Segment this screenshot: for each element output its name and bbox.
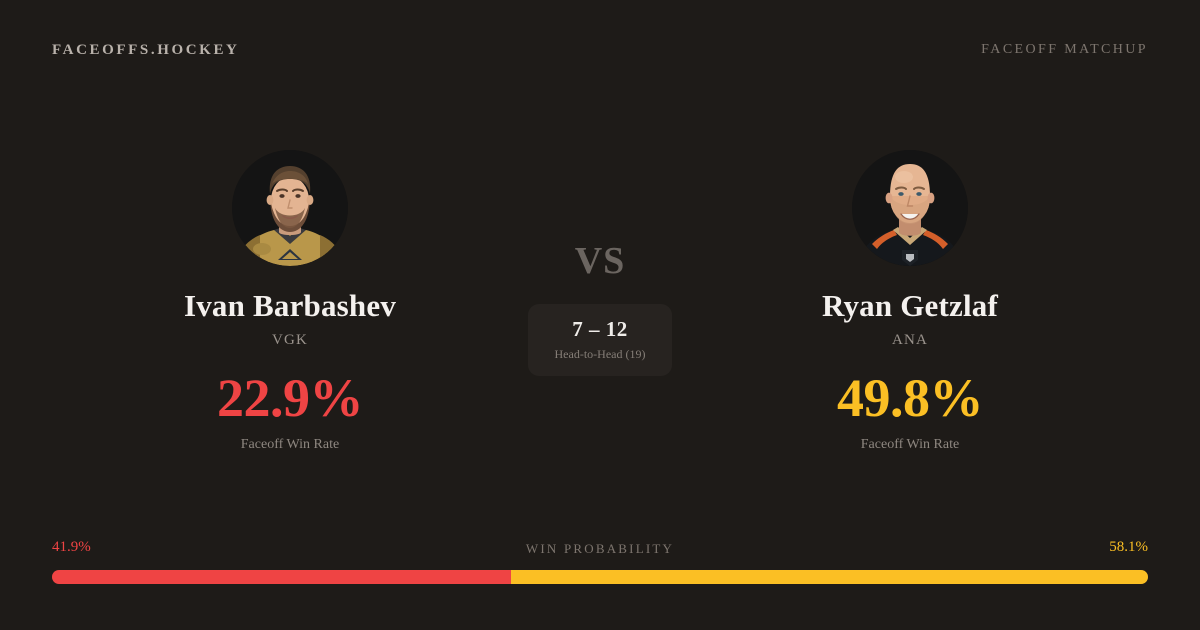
win-probability-bar-right-segment — [511, 570, 1148, 584]
win-probability-value-right: 58.1% — [1109, 539, 1148, 556]
matchup-section: Ivan Barbashev VGK 22.9% Faceoff Win Rat… — [0, 150, 1200, 480]
ryan-getzlaf-headshot — [852, 150, 968, 266]
head-to-head-box[interactable]: 7 – 12 Head-to-Head (19) — [528, 304, 672, 376]
versus-label: VS — [575, 242, 626, 280]
faceoff-matchup-card: FACEOFFS.HOCKEY FACEOFF MATCHUP — [0, 0, 1200, 630]
versus-section: VS 7 – 12 Head-to-Head (19) — [500, 150, 700, 376]
head-to-head-score: 7 – 12 — [572, 317, 628, 342]
player-name-left: Ivan Barbashev — [184, 288, 396, 324]
player-team-left: VGK — [272, 332, 308, 349]
faceoff-win-rate-label-left: Faceoff Win Rate — [241, 437, 339, 453]
player-card-right[interactable]: Ryan Getzlaf ANA 49.8% Faceoff Win Rate — [700, 150, 1120, 453]
ivan-barbashev-headshot — [232, 150, 348, 266]
faceoff-win-rate-right: 49.8% — [837, 371, 983, 425]
header-tagline: FACEOFF MATCHUP — [981, 42, 1148, 58]
faceoff-win-rate-left: 22.9% — [217, 371, 363, 425]
win-probability-section: 41.9% WIN PROBABILITY 58.1% — [52, 539, 1148, 584]
win-probability-value-left: 41.9% — [52, 539, 91, 556]
player-name-right: Ryan Getzlaf — [822, 288, 998, 324]
head-to-head-label: Head-to-Head (19) — [555, 347, 646, 362]
site-brand[interactable]: FACEOFFS.HOCKEY — [52, 42, 239, 59]
win-probability-bar[interactable] — [52, 570, 1148, 584]
win-probability-bar-left-segment — [52, 570, 511, 584]
win-probability-labels: 41.9% WIN PROBABILITY 58.1% — [52, 539, 1148, 561]
header: FACEOFFS.HOCKEY FACEOFF MATCHUP — [0, 0, 1200, 100]
win-probability-title: WIN PROBABILITY — [526, 541, 674, 557]
player-team-right: ANA — [892, 332, 928, 349]
faceoff-win-rate-label-right: Faceoff Win Rate — [861, 437, 959, 453]
player-card-left[interactable]: Ivan Barbashev VGK 22.9% Faceoff Win Rat… — [80, 150, 500, 453]
